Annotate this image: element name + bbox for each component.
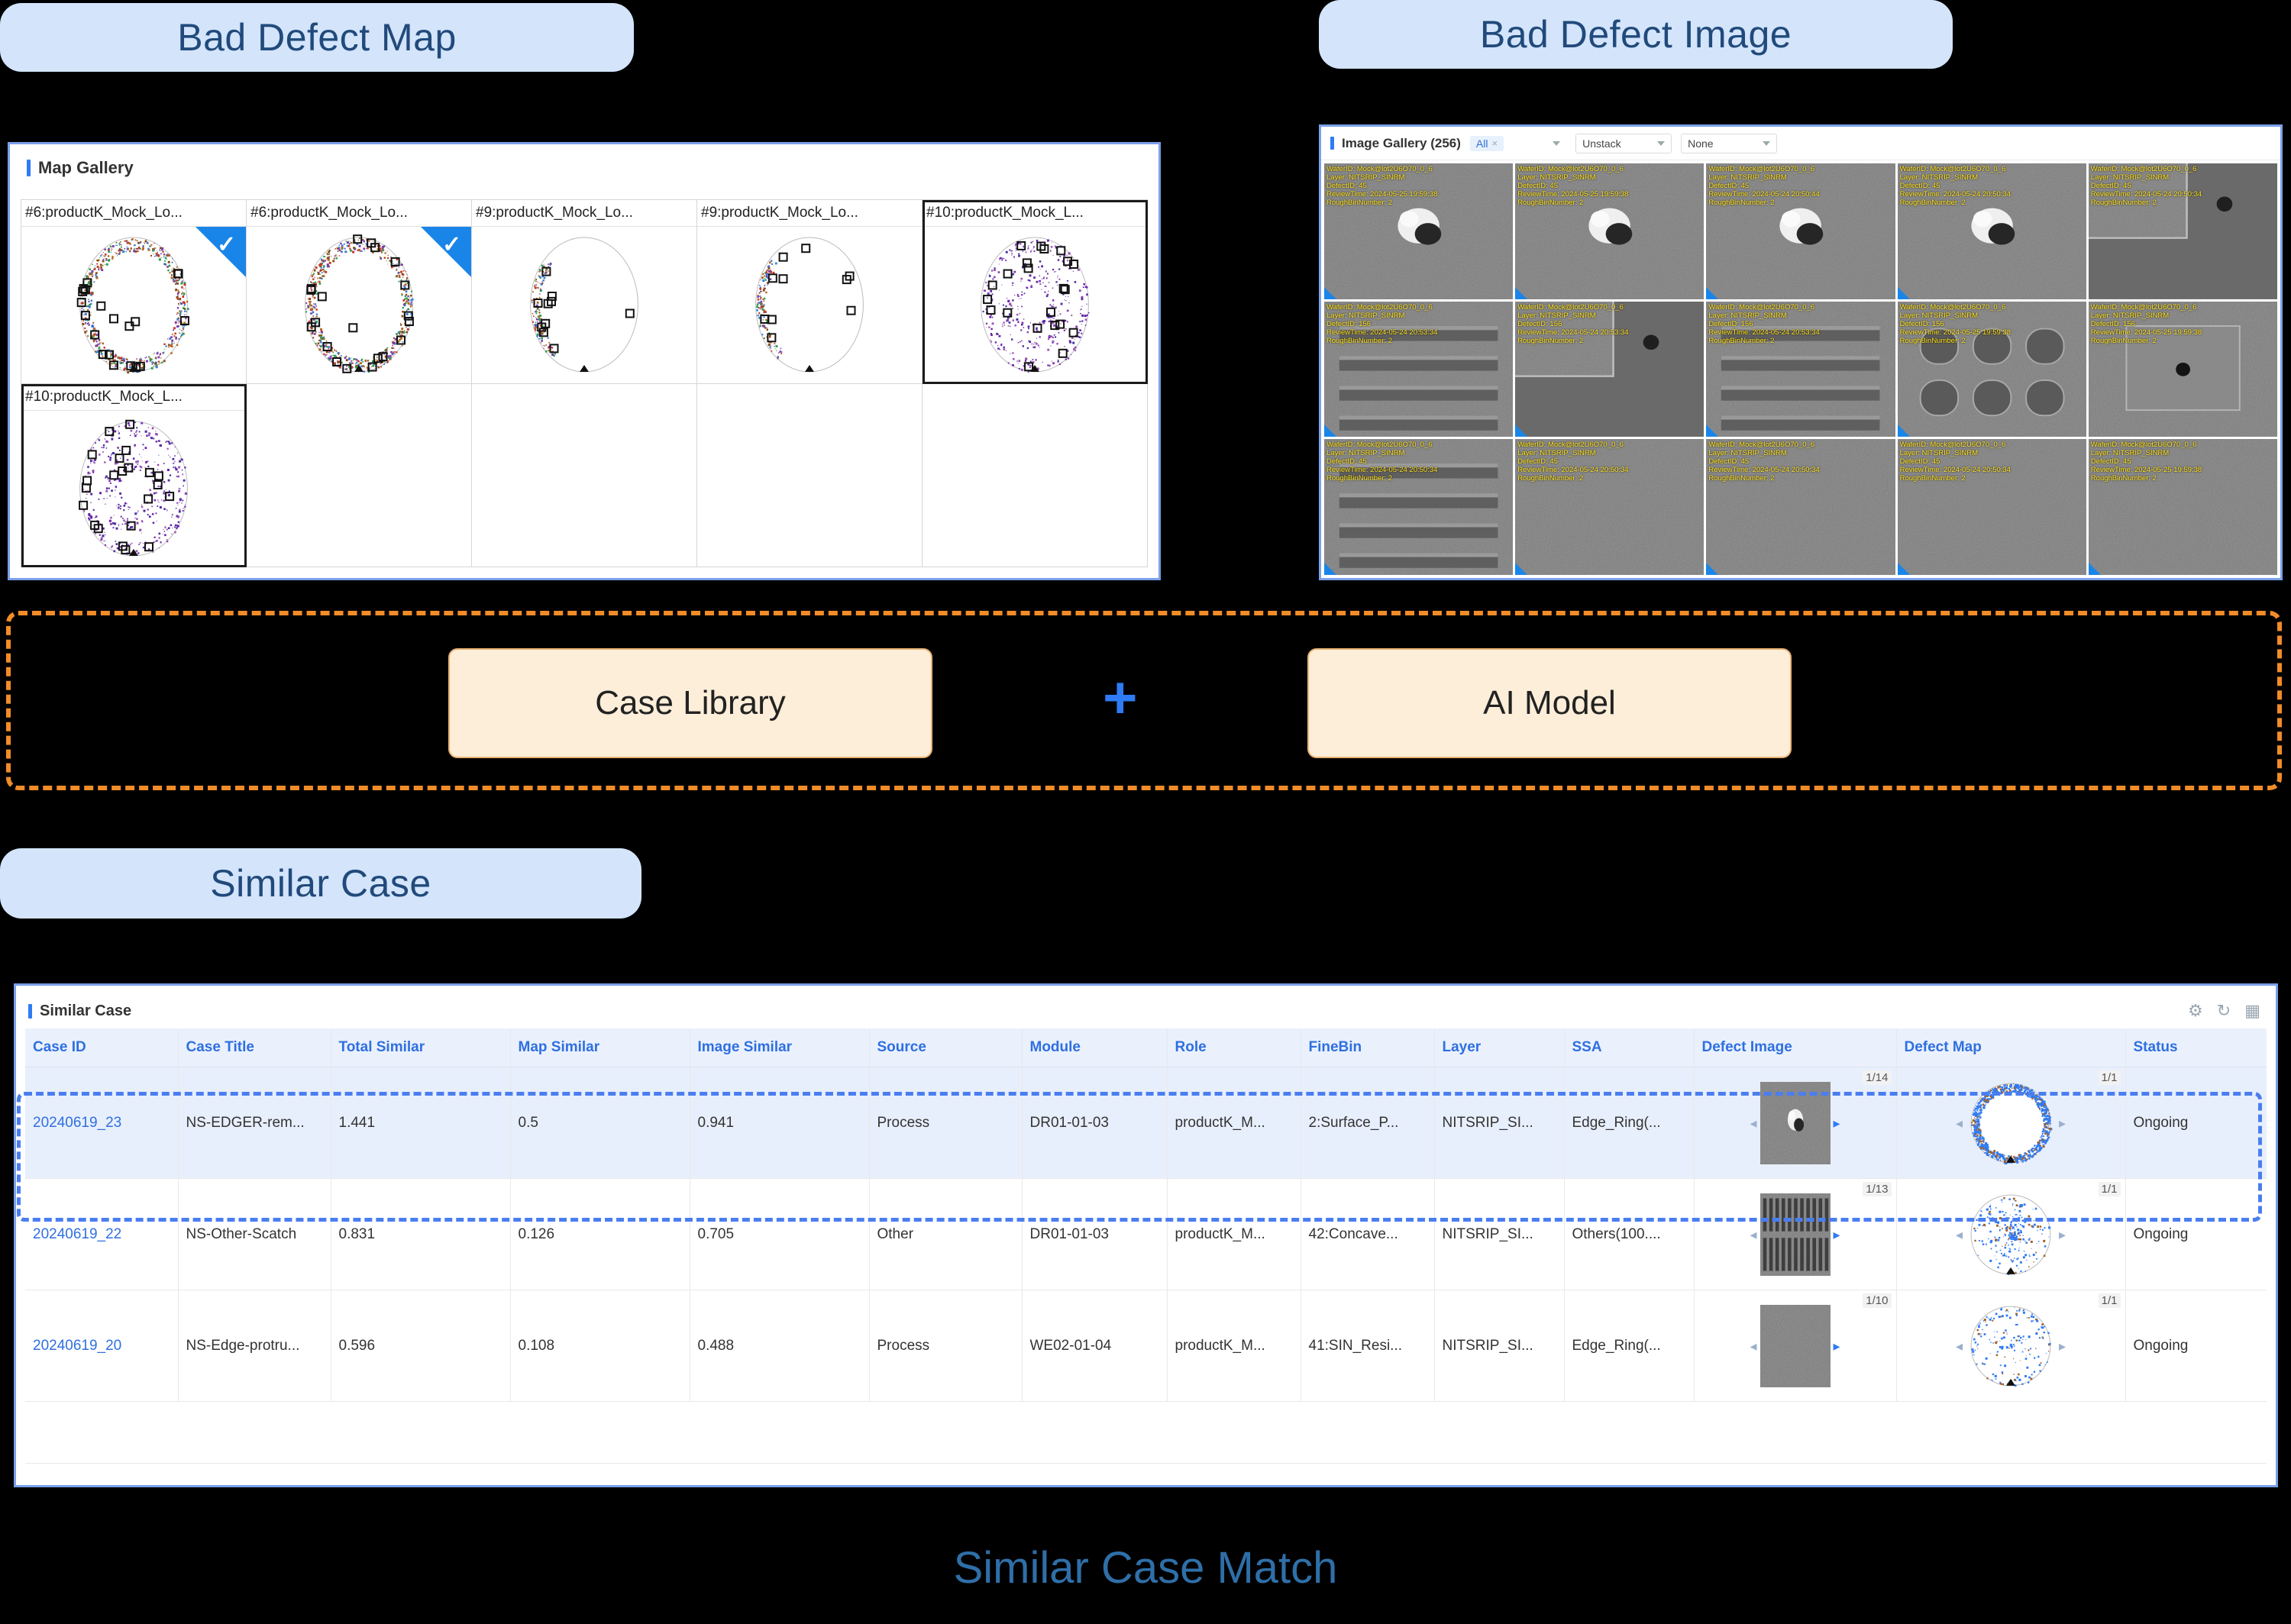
defect-image-page-indicator: 1/10 (1863, 1293, 1891, 1308)
cell-status: Ongoing (2125, 1290, 2267, 1402)
similar-case-toolbar: ⚙ ↻ ▦ (2188, 1002, 2260, 1019)
table-column-header[interactable]: Defect Image (1694, 1028, 1896, 1067)
next-map-button[interactable]: ▸ (2059, 1339, 2066, 1353)
image-gallery-tile[interactable]: WaferID: Mock@lot2U6O70_0_6Layer: NITSRI… (1324, 163, 1513, 299)
cell-map-similar: 0.5 (510, 1067, 690, 1179)
wafer-map-thumbnail (523, 228, 645, 381)
table-column-header[interactable]: Total Similar (331, 1028, 510, 1067)
map-gallery-panel: Map Gallery #6:productK_Mock_Lo...#6:pro… (8, 142, 1161, 580)
tile-rough-bin: RoughBinNumber: 2 (1326, 474, 1437, 483)
tile-layer: Layer: NITSRIP_SINRM (1517, 449, 1628, 457)
case-id-link[interactable]: 20240619_20 (33, 1338, 121, 1354)
image-gallery-tile[interactable]: WaferID: Mock@lot2U6O70_0_6Layer: NITSRI… (1324, 439, 1513, 575)
cell-ssa: Edge_Ring(... (1564, 1067, 1694, 1179)
wafer-map-thumbnail (73, 228, 195, 381)
image-tile-metadata: WaferID: Mock@lot2U6O70_0_6Layer: NITSRI… (1326, 165, 1437, 207)
tile-layer: Layer: NITSRIP_SINRM (1326, 449, 1437, 457)
bad-defect-map-text: Bad Defect Map (177, 15, 457, 60)
cell-layer: NITSRIP_SI... (1434, 1067, 1564, 1179)
cell-case-title: NS-Other-Scatch (178, 1179, 331, 1290)
status-badge: Ongoing (2134, 1115, 2189, 1131)
tile-wafer-id: WaferID: Mock@lot2U6O70_0_6 (1326, 165, 1437, 173)
table-row[interactable]: 20240619_20NS-Edge-protru...0.5960.1080.… (25, 1290, 2267, 1402)
tile-corner-marker (2089, 563, 2101, 575)
defect-image-viewer: ◂ ▸ (1702, 1082, 1889, 1164)
cell-case-id[interactable]: 20240619_22 (25, 1179, 178, 1290)
tile-defect-id: DefectID: 156 (1326, 320, 1437, 328)
cell-finebin: 41:SIN_Resi... (1301, 1290, 1434, 1402)
prev-map-button[interactable]: ◂ (1956, 1228, 1963, 1241)
map-gallery-cell[interactable]: #6:productK_Mock_Lo... (247, 200, 472, 384)
table-row[interactable]: 20240619_23NS-EDGER-rem...1.4410.50.941P… (25, 1067, 2267, 1179)
tile-corner-marker (1515, 563, 1527, 575)
tile-corner-marker (1898, 425, 1910, 437)
cell-finebin: 42:Concave... (1301, 1179, 1434, 1290)
tile-layer: Layer: NITSRIP_SINRM (1900, 449, 2011, 457)
tile-defect-id: DefectID: 45 (1326, 457, 1437, 466)
image-tile-metadata: WaferID: Mock@lot2U6O70_0_6Layer: NITSRI… (2091, 441, 2202, 483)
image-gallery-tile[interactable]: WaferID: Mock@lot2U6O70_0_6Layer: NITSRI… (1324, 302, 1513, 437)
tile-corner-marker (1515, 425, 1527, 437)
defect-map-page-indicator: 1/1 (2099, 1182, 2121, 1196)
map-gallery-cell[interactable]: #10:productK_Mock_L... (923, 200, 1148, 384)
bad-defect-image-label: Bad Defect Image (1319, 0, 1953, 69)
image-tile-metadata: WaferID: Mock@lot2U6O70_0_6Layer: NITSRI… (1900, 303, 2011, 345)
cell-defect-image[interactable]: ◂ ▸ 1/10 (1694, 1290, 1896, 1402)
tile-review-time: ReviewTime: 2024-05-25 19:59:38 (2091, 466, 2202, 474)
map-gallery-cell[interactable]: #10:productK_Mock_L... (21, 384, 247, 568)
filter-chip-label: All (1476, 137, 1488, 150)
stack-mode-value: Unstack (1582, 137, 1621, 150)
map-gallery-cell-body[interactable] (697, 227, 922, 383)
tile-corner-marker (1898, 287, 1910, 299)
tile-corner-marker (1706, 425, 1718, 437)
wafer-map-thumbnail (73, 412, 195, 565)
defect-map-thumbnail[interactable] (1966, 1301, 2056, 1391)
tile-layer: Layer: NITSRIP_SINRM (1326, 312, 1437, 320)
refresh-icon[interactable]: ↻ (2217, 1002, 2231, 1019)
prev-map-button[interactable]: ◂ (1956, 1116, 1963, 1130)
cell-map-similar: 0.126 (510, 1179, 690, 1290)
tile-review-time: ReviewTime: 2024-05-24 20:50:34 (1900, 190, 2011, 199)
cell-case-title: NS-EDGER-rem... (178, 1067, 331, 1179)
tile-rough-bin: RoughBinNumber: 2 (1517, 337, 1628, 345)
map-gallery-empty-cell (923, 384, 1148, 568)
tile-layer: Layer: NITSRIP_SINRM (1708, 173, 1819, 182)
defect-map-viewer: ◂ ▸ (1905, 1193, 2118, 1276)
next-map-button[interactable]: ▸ (2059, 1116, 2066, 1130)
case-id-link[interactable]: 20240619_23 (33, 1115, 121, 1131)
defect-map-thumbnail[interactable] (1966, 1078, 2056, 1168)
title-accent-bar (1330, 137, 1334, 150)
table-column-header[interactable]: Status (2125, 1028, 2267, 1067)
similar-case-panel: Similar Case ⚙ ↻ ▦ Case IDCase TitleTota… (14, 983, 2278, 1487)
tile-rough-bin: RoughBinNumber: 2 (1900, 337, 2011, 345)
cell-image-similar: 0.941 (690, 1067, 869, 1179)
prev-image-button[interactable]: ◂ (1750, 1339, 1756, 1353)
map-gallery-cell-body[interactable] (923, 227, 1147, 383)
tile-wafer-id: WaferID: Mock@lot2U6O70_0_6 (1708, 441, 1819, 449)
chevron-down-icon (1763, 141, 1770, 146)
tile-review-time: ReviewTime: 2024-05-24 20:50:34 (1900, 466, 2011, 474)
image-gallery-toolbar: Image Gallery (256) All × Unstack None (1321, 127, 2280, 160)
image-gallery-tile[interactable]: WaferID: Mock@lot2U6O70_0_6Layer: NITSRI… (1706, 439, 1895, 575)
filter-chip-all[interactable]: All × (1470, 136, 1504, 151)
cell-case-id[interactable]: 20240619_23 (25, 1067, 178, 1179)
map-gallery-cell-body[interactable] (21, 411, 246, 567)
map-gallery-title: Map Gallery (38, 158, 134, 178)
page-title-text: Similar Case Match (954, 1543, 1338, 1593)
next-map-button[interactable]: ▸ (2059, 1228, 2066, 1241)
case-id-link[interactable]: 20240619_22 (33, 1226, 121, 1242)
tile-review-time: ReviewTime: 2024-05-24 20:53:34 (1517, 328, 1628, 337)
tile-corner-marker (1706, 287, 1718, 299)
prev-map-button[interactable]: ◂ (1956, 1339, 1963, 1353)
cell-status: Ongoing (2125, 1179, 2267, 1290)
similar-case-title-row: Similar Case (28, 1002, 131, 1020)
image-gallery-tile[interactable]: WaferID: Mock@lot2U6O70_0_6Layer: NITSRI… (1706, 163, 1895, 299)
cell-defect-image[interactable]: ◂ ▸ 1/13 (1694, 1179, 1896, 1290)
cell-finebin: 2:Surface_P... (1301, 1067, 1434, 1179)
tile-layer: Layer: NITSRIP_SINRM (1708, 449, 1819, 457)
image-gallery-tile[interactable]: WaferID: Mock@lot2U6O70_0_6Layer: NITSRI… (1898, 302, 2086, 437)
tile-layer: Layer: NITSRIP_SINRM (1517, 312, 1628, 320)
cell-source: Process (869, 1067, 1022, 1179)
cell-ssa: Others(100.... (1564, 1179, 1694, 1290)
cell-role: productK_M... (1167, 1067, 1301, 1179)
tile-wafer-id: WaferID: Mock@lot2U6O70_0_6 (1326, 441, 1437, 449)
similar-case-table-wrap: Case IDCase TitleTotal SimilarMap Simila… (25, 1028, 2267, 1477)
cell-status: Ongoing (2125, 1067, 2267, 1179)
table-column-header[interactable]: Layer (1434, 1028, 1564, 1067)
tile-wafer-id: WaferID: Mock@lot2U6O70_0_6 (1517, 303, 1628, 312)
ai-model-box[interactable]: AI Model (1307, 648, 1792, 758)
wafer-map-thumbnail (298, 228, 420, 381)
cell-image-similar: 0.488 (690, 1290, 869, 1402)
prev-image-button[interactable]: ◂ (1750, 1116, 1756, 1130)
image-tile-metadata: WaferID: Mock@lot2U6O70_0_6Layer: NITSRI… (1326, 441, 1437, 483)
cell-case-title: NS-Edge-protru... (178, 1290, 331, 1402)
tile-corner-marker (1324, 425, 1336, 437)
image-tile-metadata: WaferID: Mock@lot2U6O70_0_6Layer: NITSRI… (2091, 303, 2202, 345)
table-column-header[interactable]: Case ID (25, 1028, 178, 1067)
tile-rough-bin: RoughBinNumber: 2 (2091, 199, 2202, 207)
defect-map-viewer: ◂ ▸ (1905, 1305, 2118, 1387)
map-gallery-header: Map Gallery (10, 144, 1158, 187)
defect-map-viewer: ◂ ▸ (1905, 1082, 2118, 1164)
status-badge: Ongoing (2134, 1226, 2189, 1242)
image-tile-metadata: WaferID: Mock@lot2U6O70_0_6Layer: NITSRI… (2091, 165, 2202, 207)
cell-role: productK_M... (1167, 1290, 1301, 1402)
tile-defect-id: DefectID: 156 (1708, 320, 1819, 328)
tile-wafer-id: WaferID: Mock@lot2U6O70_0_6 (2091, 165, 2202, 173)
defect-image-thumbnail[interactable] (1760, 1305, 1831, 1387)
tile-wafer-id: WaferID: Mock@lot2U6O70_0_6 (1517, 441, 1628, 449)
status-badge: Ongoing (2134, 1338, 2189, 1354)
table-column-header[interactable]: Case Title (178, 1028, 331, 1067)
map-gallery-title-row: Map Gallery (27, 158, 1158, 178)
plus-icon: + (1103, 663, 1138, 732)
tile-layer: Layer: NITSRIP_SINRM (1900, 312, 2011, 320)
tile-defect-id: DefectID: 45 (1517, 457, 1628, 466)
image-tile-metadata: WaferID: Mock@lot2U6O70_0_6Layer: NITSRI… (1517, 441, 1628, 483)
next-image-button[interactable]: ▸ (1834, 1228, 1840, 1241)
image-gallery-grid: WaferID: Mock@lot2U6O70_0_6Layer: NITSRI… (1324, 163, 2277, 575)
tile-defect-id: DefectID: 45 (1900, 457, 2011, 466)
table-column-header[interactable]: Module (1022, 1028, 1167, 1067)
image-gallery-tile[interactable]: WaferID: Mock@lot2U6O70_0_6Layer: NITSRI… (1706, 302, 1895, 437)
tile-wafer-id: WaferID: Mock@lot2U6O70_0_6 (1900, 303, 2011, 312)
image-tile-metadata: WaferID: Mock@lot2U6O70_0_6Layer: NITSRI… (1708, 303, 1819, 345)
similar-case-title: Similar Case (40, 1002, 131, 1020)
tile-rough-bin: RoughBinNumber: 2 (1900, 474, 2011, 483)
group-by-select[interactable]: None (1681, 134, 1777, 153)
map-gallery-cell-caption: #9:productK_Mock_Lo... (472, 200, 696, 227)
cell-total-similar: 0.596 (331, 1290, 510, 1402)
image-gallery-panel: Image Gallery (256) All × Unstack None W… (1319, 124, 2283, 580)
map-gallery-cell-caption: #9:productK_Mock_Lo... (697, 200, 922, 227)
tile-wafer-id: WaferID: Mock@lot2U6O70_0_6 (2091, 441, 2202, 449)
image-gallery-tile[interactable]: WaferID: Mock@lot2U6O70_0_6Layer: NITSRI… (1898, 439, 2086, 575)
tile-layer: Layer: NITSRIP_SINRM (2091, 173, 2202, 182)
image-tile-metadata: WaferID: Mock@lot2U6O70_0_6Layer: NITSRI… (1517, 303, 1628, 345)
defect-image-viewer: ◂ ▸ (1702, 1305, 1889, 1387)
tile-defect-id: DefectID: 45 (1708, 182, 1819, 190)
case-library-label: Case Library (595, 684, 785, 722)
defect-image-page-indicator: 1/13 (1863, 1182, 1891, 1196)
tile-layer: Layer: NITSRIP_SINRM (2091, 449, 2202, 457)
tile-rough-bin: RoughBinNumber: 2 (1326, 199, 1437, 207)
image-gallery-tile[interactable]: WaferID: Mock@lot2U6O70_0_6Layer: NITSRI… (1898, 163, 2086, 299)
wafer-map-thumbnail (974, 228, 1096, 381)
cell-layer: NITSRIP_SI... (1434, 1290, 1564, 1402)
tile-review-time: ReviewTime: 2024-05-24 20:50:34 (2091, 190, 2202, 199)
tile-rough-bin: RoughBinNumber: 2 (1708, 337, 1819, 345)
image-gallery-title-row: Image Gallery (256) (1330, 136, 1461, 151)
table-header-row: Case IDCase TitleTotal SimilarMap Simila… (25, 1028, 2267, 1067)
tile-review-time: ReviewTime: 2024-05-25 19:59:38 (2091, 328, 2202, 337)
tile-review-time: ReviewTime: 2024-05-24 20:53:34 (1708, 328, 1819, 337)
map-gallery-cell-body[interactable] (21, 227, 246, 383)
tile-rough-bin: RoughBinNumber: 2 (2091, 474, 2202, 483)
tile-rough-bin: RoughBinNumber: 2 (1326, 337, 1437, 345)
stack-mode-select[interactable]: Unstack (1575, 134, 1672, 153)
close-icon[interactable]: × (1491, 137, 1498, 149)
tile-corner-marker (1898, 563, 1910, 575)
tile-defect-id: DefectID: 45 (2091, 457, 2202, 466)
tile-review-time: ReviewTime: 2024-05-24 20:50:34 (1708, 466, 1819, 474)
image-tile-metadata: WaferID: Mock@lot2U6O70_0_6Layer: NITSRI… (1900, 441, 2011, 483)
tile-review-time: ReviewTime: 2024-05-24 20:50:44 (1708, 190, 1819, 199)
map-gallery-cell-caption: #10:productK_Mock_L... (923, 200, 1147, 227)
gear-icon[interactable]: ⚙ (2188, 1002, 2203, 1019)
check-icon[interactable] (421, 227, 471, 277)
chevron-down-icon (1657, 141, 1665, 146)
tile-corner-marker (1515, 287, 1527, 299)
defect-image-page-indicator: 1/14 (1863, 1070, 1891, 1085)
map-gallery-cell-body[interactable] (472, 227, 696, 383)
ai-matching-band: Case Library + AI Model (6, 611, 2282, 790)
cell-defect-map[interactable]: ◂ ▸ 1/1 (1896, 1290, 2125, 1402)
image-gallery-title: Image Gallery (256) (1342, 136, 1461, 151)
table-column-header[interactable]: Defect Map (1896, 1028, 2125, 1067)
image-gallery-tile[interactable]: WaferID: Mock@lot2U6O70_0_6Layer: NITSRI… (1515, 302, 1704, 437)
tile-rough-bin: RoughBinNumber: 2 (1708, 199, 1819, 207)
tile-defect-id: DefectID: 156 (2091, 320, 2202, 328)
similar-case-text: Similar Case (210, 861, 431, 906)
check-icon[interactable] (195, 227, 246, 277)
tile-corner-marker (1706, 563, 1718, 575)
image-gallery-tile[interactable]: WaferID: Mock@lot2U6O70_0_6Layer: NITSRI… (1515, 163, 1704, 299)
table-column-header[interactable]: Role (1167, 1028, 1301, 1067)
filter-dropdown[interactable] (1513, 134, 1566, 153)
cell-defect-image[interactable]: ◂ ▸ 1/14 (1694, 1067, 1896, 1179)
map-gallery-cell[interactable]: #6:productK_Mock_Lo... (21, 200, 247, 384)
image-tile-metadata: WaferID: Mock@lot2U6O70_0_6Layer: NITSRI… (1517, 165, 1628, 207)
defect-map-thumbnail[interactable] (1966, 1190, 2056, 1280)
tile-review-time: ReviewTime: 2024-05-25 19:59:38 (1326, 190, 1437, 199)
next-image-button[interactable]: ▸ (1834, 1116, 1840, 1130)
case-library-box[interactable]: Case Library (448, 648, 932, 758)
tile-review-time: ReviewTime: 2024-05-25 19:59:38 (1900, 328, 2011, 337)
tile-review-time: ReviewTime: 2024-05-24 20:50:34 (1517, 466, 1628, 474)
tile-defect-id: DefectID: 45 (1900, 182, 2011, 190)
map-gallery-cell-caption: #10:productK_Mock_L... (21, 384, 246, 411)
tile-review-time: ReviewTime: 2024-05-25 19:59:38 (1517, 190, 1628, 199)
cell-ssa: Edge_Ring(... (1564, 1290, 1694, 1402)
table-column-header[interactable]: Image Similar (690, 1028, 869, 1067)
bad-defect-image-text: Bad Defect Image (1480, 12, 1792, 57)
cell-module: DR01-01-03 (1022, 1179, 1167, 1290)
grid-icon[interactable]: ▦ (2244, 1002, 2260, 1019)
cell-total-similar: 0.831 (331, 1179, 510, 1290)
cell-module: WE02-01-04 (1022, 1290, 1167, 1402)
defect-map-page-indicator: 1/1 (2099, 1293, 2121, 1308)
title-accent-bar (28, 1004, 32, 1019)
cell-map-similar: 0.108 (510, 1290, 690, 1402)
tile-rough-bin: RoughBinNumber: 2 (1708, 474, 1819, 483)
prev-image-button[interactable]: ◂ (1750, 1228, 1756, 1241)
image-tile-metadata: WaferID: Mock@lot2U6O70_0_6Layer: NITSRI… (1326, 303, 1437, 345)
page-title: Similar Case Match (0, 1542, 2291, 1593)
tile-corner-marker (1324, 287, 1336, 299)
tile-review-time: ReviewTime: 2024-05-24 20:50:34 (1326, 466, 1437, 474)
empty-cell (25, 1402, 2267, 1464)
chevron-down-icon (1553, 141, 1560, 146)
tile-rough-bin: RoughBinNumber: 2 (1900, 199, 2011, 207)
map-gallery-cell[interactable]: #9:productK_Mock_Lo... (472, 200, 697, 384)
table-column-header[interactable]: Source (869, 1028, 1022, 1067)
next-image-button[interactable]: ▸ (1834, 1339, 1840, 1353)
tile-wafer-id: WaferID: Mock@lot2U6O70_0_6 (1326, 303, 1437, 312)
map-gallery-cell-caption: #6:productK_Mock_Lo... (21, 200, 246, 227)
table-column-header[interactable]: FineBin (1301, 1028, 1434, 1067)
tile-review-time: ReviewTime: 2024-05-24 20:53:34 (1326, 328, 1437, 337)
tile-rough-bin: RoughBinNumber: 2 (1517, 474, 1628, 483)
cell-role: productK_M... (1167, 1179, 1301, 1290)
title-accent-bar (27, 160, 31, 176)
tile-wafer-id: WaferID: Mock@lot2U6O70_0_6 (2091, 303, 2202, 312)
defect-image-thumbnail[interactable] (1760, 1082, 1831, 1164)
cell-source: Process (869, 1290, 1022, 1402)
cell-defect-map[interactable]: ◂ ▸ 1/1 (1896, 1067, 2125, 1179)
image-gallery-tile[interactable]: WaferID: Mock@lot2U6O70_0_6Layer: NITSRI… (2089, 163, 2277, 299)
similar-case-label: Similar Case (0, 848, 641, 919)
cell-source: Other (869, 1179, 1022, 1290)
map-gallery-empty-cell (697, 384, 923, 568)
table-column-header[interactable]: Map Similar (510, 1028, 690, 1067)
defect-image-thumbnail[interactable] (1760, 1193, 1831, 1276)
cell-layer: NITSRIP_SI... (1434, 1179, 1564, 1290)
table-row[interactable]: 20240619_22NS-Other-Scatch0.8310.1260.70… (25, 1179, 2267, 1290)
map-gallery-cell[interactable]: #9:productK_Mock_Lo... (697, 200, 923, 384)
map-gallery-empty-cell (247, 384, 472, 568)
table-column-header[interactable]: SSA (1564, 1028, 1694, 1067)
ai-model-label: AI Model (1483, 684, 1616, 722)
tile-wafer-id: WaferID: Mock@lot2U6O70_0_6 (1517, 165, 1628, 173)
image-tile-metadata: WaferID: Mock@lot2U6O70_0_6Layer: NITSRI… (1708, 165, 1819, 207)
similar-case-table: Case IDCase TitleTotal SimilarMap Simila… (25, 1028, 2267, 1464)
tile-wafer-id: WaferID: Mock@lot2U6O70_0_6 (1708, 303, 1819, 312)
table-body: 20240619_23NS-EDGER-rem...1.4410.50.941P… (25, 1067, 2267, 1464)
tile-defect-id: DefectID: 45 (1708, 457, 1819, 466)
tile-defect-id: DefectID: 45 (2091, 182, 2202, 190)
tile-wafer-id: WaferID: Mock@lot2U6O70_0_6 (1708, 165, 1819, 173)
cell-image-similar: 0.705 (690, 1179, 869, 1290)
tile-rough-bin: RoughBinNumber: 2 (1517, 199, 1628, 207)
tile-layer: Layer: NITSRIP_SINRM (2091, 312, 2202, 320)
similar-case-header: Similar Case ⚙ ↻ ▦ (16, 986, 2276, 1025)
map-gallery-cell-body[interactable] (247, 227, 471, 383)
map-gallery-grid: #6:productK_Mock_Lo...#6:productK_Mock_L… (21, 199, 1148, 567)
tile-layer: Layer: NITSRIP_SINRM (1517, 173, 1628, 182)
group-by-value: None (1688, 137, 1713, 150)
image-tile-metadata: WaferID: Mock@lot2U6O70_0_6Layer: NITSRI… (1708, 441, 1819, 483)
map-gallery-cell-caption: #6:productK_Mock_Lo... (247, 200, 471, 227)
tile-defect-id: DefectID: 45 (1326, 182, 1437, 190)
map-gallery-empty-cell (472, 384, 697, 568)
tile-defect-id: DefectID: 156 (1900, 320, 2011, 328)
tile-wafer-id: WaferID: Mock@lot2U6O70_0_6 (1900, 441, 2011, 449)
image-gallery-tile[interactable]: WaferID: Mock@lot2U6O70_0_6Layer: NITSRI… (1515, 439, 1704, 575)
tile-wafer-id: WaferID: Mock@lot2U6O70_0_6 (1900, 165, 2011, 173)
cell-module: DR01-01-03 (1022, 1067, 1167, 1179)
cell-total-similar: 1.441 (331, 1067, 510, 1179)
tile-corner-marker (1324, 563, 1336, 575)
tile-layer: Layer: NITSRIP_SINRM (1326, 173, 1437, 182)
tile-layer: Layer: NITSRIP_SINRM (1708, 312, 1819, 320)
image-gallery-tile[interactable]: WaferID: Mock@lot2U6O70_0_6Layer: NITSRI… (2089, 439, 2277, 575)
image-gallery-tile[interactable]: WaferID: Mock@lot2U6O70_0_6Layer: NITSRI… (2089, 302, 2277, 437)
bad-defect-map-label: Bad Defect Map (0, 3, 634, 72)
wafer-map-thumbnail (748, 228, 871, 381)
image-tile-metadata: WaferID: Mock@lot2U6O70_0_6Layer: NITSRI… (1900, 165, 2011, 207)
table-empty-row (25, 1402, 2267, 1464)
tile-rough-bin: RoughBinNumber: 2 (2091, 337, 2202, 345)
tile-defect-id: DefectID: 156 (1517, 320, 1628, 328)
tile-defect-id: DefectID: 45 (1517, 182, 1628, 190)
defect-image-viewer: ◂ ▸ (1702, 1193, 1889, 1276)
tile-layer: Layer: NITSRIP_SINRM (1900, 173, 2011, 182)
defect-map-page-indicator: 1/1 (2099, 1070, 2121, 1085)
cell-case-id[interactable]: 20240619_20 (25, 1290, 178, 1402)
cell-defect-map[interactable]: ◂ ▸ 1/1 (1896, 1179, 2125, 1290)
